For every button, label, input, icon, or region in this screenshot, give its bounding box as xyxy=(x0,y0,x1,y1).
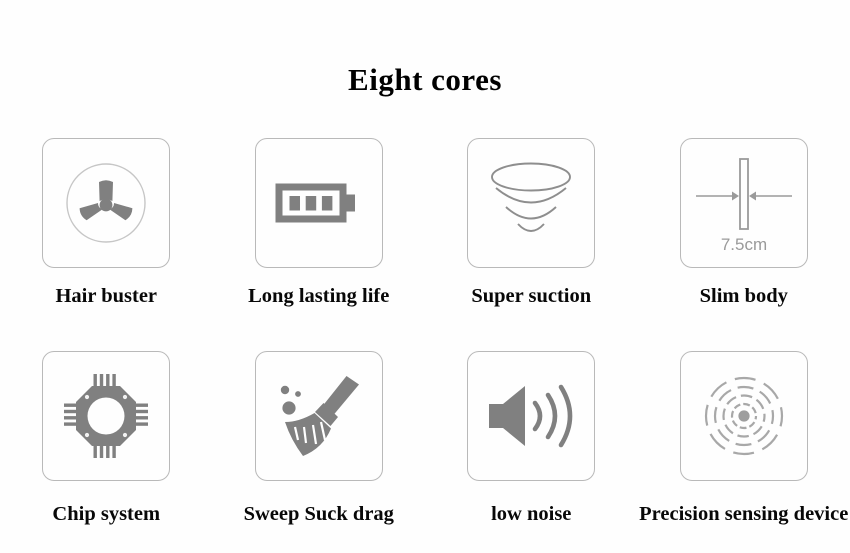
feature-highlights-page: Eight cores Hair buster xyxy=(0,0,850,553)
icon-box-hair-buster[interactable] xyxy=(42,138,170,268)
icon-box-precision-sensing-device[interactable] xyxy=(680,351,808,481)
feature-label: Long lasting life xyxy=(248,285,389,308)
feature-label: Hair buster xyxy=(55,285,157,308)
radar-sensor-icon xyxy=(698,370,790,462)
icon-box-sweep-suck-drag[interactable] xyxy=(255,351,383,481)
feature-label: Sweep Suck drag xyxy=(244,503,394,526)
feature-cell-long-lasting-life[interactable]: Long lasting life xyxy=(213,138,426,308)
feature-label: Chip system xyxy=(52,503,160,526)
feature-row-1: Hair buster Long lasting life xyxy=(0,138,850,308)
vortex-suction-icon xyxy=(485,159,577,247)
icon-box-long-lasting-life[interactable] xyxy=(255,138,383,268)
feature-label: Precision sensing device xyxy=(639,503,848,526)
speaker-volume-icon xyxy=(485,378,577,454)
fan-blades-icon xyxy=(58,155,154,251)
broom-icon xyxy=(271,370,367,462)
feature-cell-sweep-suck-drag[interactable]: Sweep Suck drag xyxy=(213,351,426,526)
thickness-annotation-label: 7.5cm xyxy=(721,235,767,254)
thickness-measure-icon: 7.5cm xyxy=(688,147,800,259)
feature-cell-slim-body[interactable]: 7.5cm Slim body xyxy=(638,138,850,308)
feature-cell-precision-sensing-device[interactable]: Precision sensing device xyxy=(638,351,850,526)
feature-cell-chip-system[interactable]: Chip system xyxy=(0,351,213,526)
icon-box-slim-body[interactable]: 7.5cm xyxy=(680,138,808,268)
battery-icon xyxy=(277,175,361,231)
cpu-chip-icon xyxy=(58,368,154,464)
feature-cell-low-noise[interactable]: low noise xyxy=(425,351,638,526)
page-title: Eight cores xyxy=(0,62,850,98)
feature-label: low noise xyxy=(491,503,571,526)
feature-row-2: Chip system xyxy=(0,351,850,526)
feature-label: Super suction xyxy=(471,285,591,308)
feature-label: Slim body xyxy=(700,285,788,308)
feature-cell-super-suction[interactable]: Super suction xyxy=(425,138,638,308)
icon-box-chip-system[interactable] xyxy=(42,351,170,481)
feature-cell-hair-buster[interactable]: Hair buster xyxy=(0,138,213,308)
icon-box-low-noise[interactable] xyxy=(467,351,595,481)
icon-box-super-suction[interactable] xyxy=(467,138,595,268)
